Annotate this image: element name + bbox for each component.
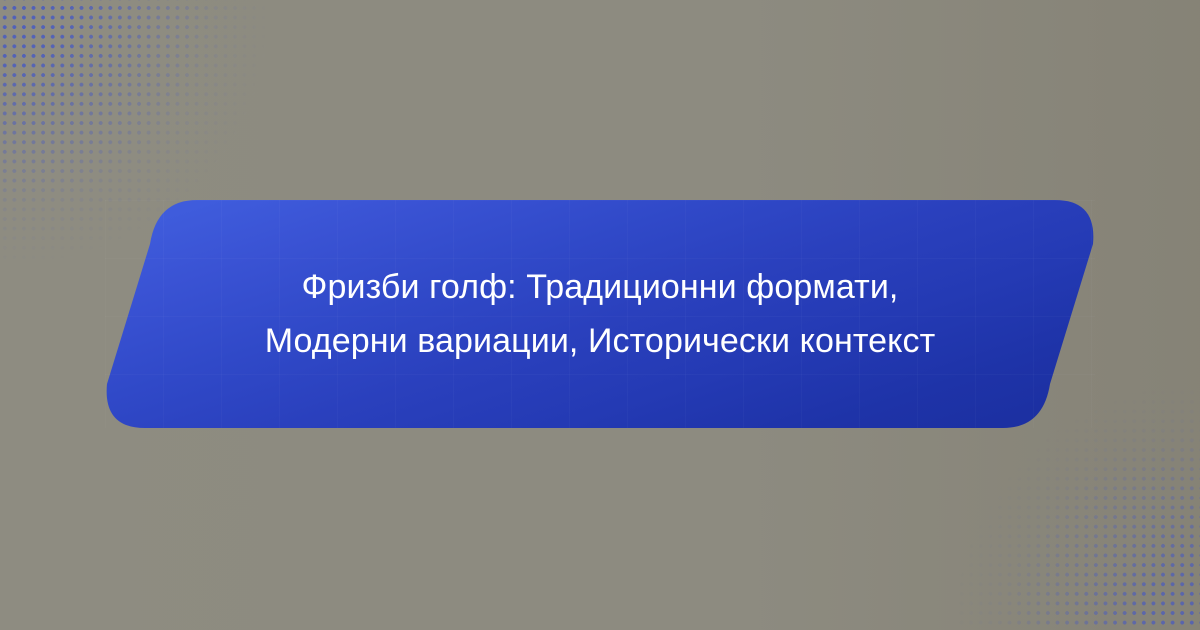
social-card-stage: Фризби голф: Традиционни формати, Модерн… (0, 0, 1200, 630)
title-card (105, 200, 1095, 428)
title-card-shape (105, 200, 1095, 428)
